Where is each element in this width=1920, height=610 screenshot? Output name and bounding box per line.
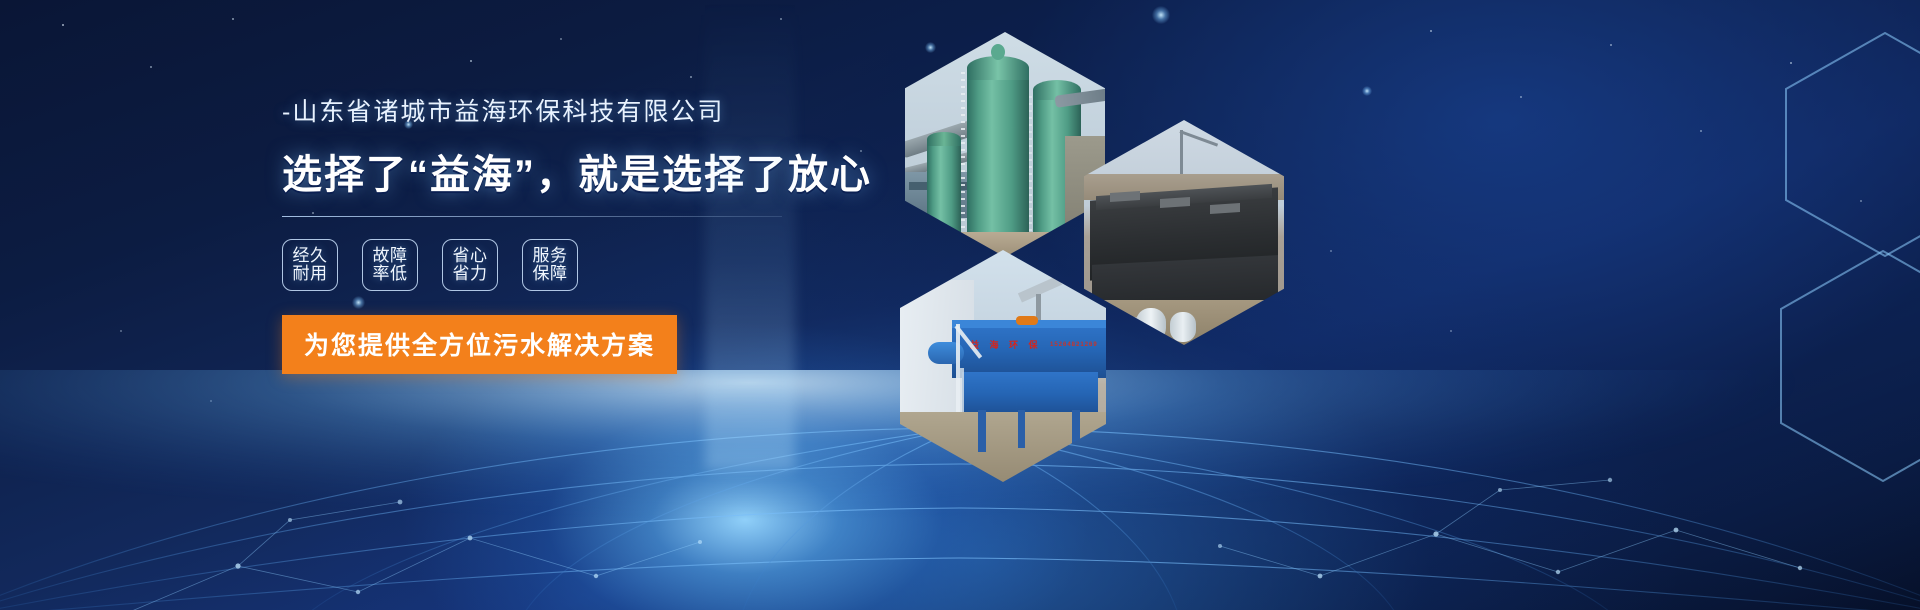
badge-line-2: 省力 [453, 265, 488, 283]
star [780, 18, 782, 20]
badge-line-2: 保障 [533, 265, 568, 283]
feature-badge-list: 经久 耐用 故障 率低 省心 省力 服务 保障 [282, 239, 842, 291]
star-glow [1362, 86, 1372, 96]
star [860, 150, 862, 152]
headline-divider [282, 216, 782, 217]
badge-line-1: 故障 [373, 247, 408, 265]
star [150, 66, 152, 68]
star [1430, 30, 1432, 32]
feature-badge-durable[interactable]: 经久 耐用 [282, 239, 338, 291]
hero-headline: 选择了“益海”，就是选择了放心 [282, 142, 842, 200]
photo-blue-daf-machine[interactable]: 益 海 环 保 15264821269 [900, 250, 1106, 482]
hexagon-photo-cluster: 益 海 环 保 15264821269 [880, 0, 1360, 500]
cta-button[interactable]: 为您提供全方位污水解决方案 [282, 315, 677, 374]
photo-buried-sewage-tanks[interactable] [1084, 120, 1284, 345]
feature-badge-effortless[interactable]: 省心 省力 [442, 239, 498, 291]
star [690, 76, 692, 78]
star [1450, 330, 1452, 332]
machine-phone-text: 15264821269 [1050, 342, 1098, 348]
feature-badge-service[interactable]: 服务 保障 [522, 239, 578, 291]
badge-line-1: 经久 [293, 247, 328, 265]
star [120, 330, 122, 332]
star [1610, 44, 1612, 46]
feature-badge-low-failure[interactable]: 故障 率低 [362, 239, 418, 291]
badge-line-1: 服务 [533, 247, 568, 265]
star [560, 38, 562, 40]
company-subtitle: -山东省诸城市益海环保科技有限公司 [282, 92, 842, 128]
star [1790, 62, 1792, 64]
hero-content: -山东省诸城市益海环保科技有限公司 选择了“益海”，就是选择了放心 经久 耐用 … [282, 92, 842, 374]
star [1700, 130, 1702, 132]
photo-hex-border [1785, 32, 1920, 257]
star [232, 18, 234, 20]
hero-banner: -山东省诸城市益海环保科技有限公司 选择了“益海”，就是选择了放心 经久 耐用 … [0, 0, 1920, 610]
machine-brand-text: 益 海 环 保 [970, 338, 1042, 351]
star [470, 60, 472, 62]
star [1860, 200, 1862, 202]
star [1520, 96, 1522, 98]
photo-green-scrubber-towers[interactable] [905, 32, 1105, 257]
badge-line-1: 省心 [453, 247, 488, 265]
star [62, 24, 64, 26]
badge-line-2: 耐用 [293, 265, 328, 283]
badge-line-2: 率低 [373, 265, 408, 283]
